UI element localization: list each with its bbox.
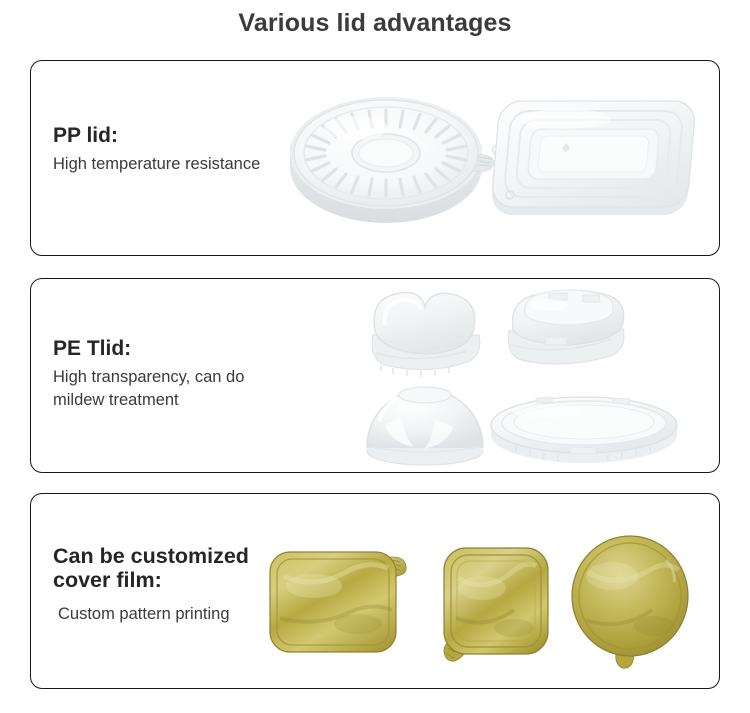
product-image-round-dome-lid [361,377,491,472]
product-image-square-dome-lid [501,281,636,381]
card-film-subtitle: Custom pattern printing [53,603,249,627]
card-pe-heading: PE Tlid: [53,337,244,361]
product-image-rectangular-gold-foil-lid [266,546,416,661]
card-cover-film: Can be customized cover film: Custom pat… [30,493,720,689]
card-pp-lid: PP lid: High temperature resistance [30,60,720,256]
card-pe-text-block: PE Tlid: High transparency, can do milde… [53,337,244,413]
product-image-square-gold-foil-lid [436,544,556,669]
card-film-text-block: Can be customized cover film: Custom pat… [53,544,249,627]
card-pp-subtitle: High temperature resistance [53,153,260,177]
card-pe-subtitle: High transparency, can do mildew treatme… [53,366,244,414]
product-image-heart-dome-lid [359,281,489,386]
card-pp-text-block: PP lid: High temperature resistance [53,124,260,176]
product-image-oval-flat-lid [486,387,686,472]
card-film-heading: Can be customized cover film: [53,544,249,592]
product-image-rectangular-pp-lid [491,79,716,239]
lid-advantages-page: Various lid advantages PP lid: High temp… [0,0,750,713]
card-pe-t-lid: PE Tlid: High transparency, can do milde… [30,278,720,473]
product-image-round-pp-lid [286,83,496,233]
card-pp-heading: PP lid: [53,124,260,148]
page-title: Various lid advantages [0,9,750,38]
product-image-round-gold-foil-lid [566,534,701,674]
